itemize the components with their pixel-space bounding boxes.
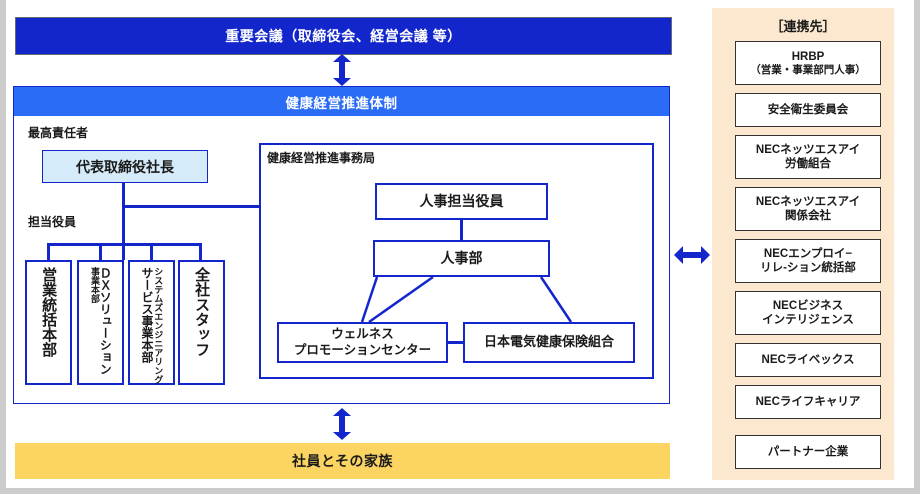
arrow-shaft [339, 414, 345, 434]
sidebar-item-nec-employee-relations-line1: NECエンプロイ− [764, 247, 852, 261]
department-box-3: システムズエンジニアリング サービス事業本部 [128, 260, 175, 385]
connector-ceo-to-officers [122, 205, 125, 260]
important-meetings-label: 重要会議（取締役会、経営会議 等） [225, 26, 461, 46]
department-box-2: ＤＸソリューション 事業本部 [77, 260, 124, 385]
wellness-promotion-center-line1: ウェルネス [331, 327, 394, 343]
arrow-head-down [333, 432, 351, 440]
arrow-head-down [333, 78, 351, 86]
sidebar-item-nesic-affiliates-line1: NECネッツエスアイ [756, 195, 860, 209]
ceo-box: 代表取締役社長 [42, 150, 208, 183]
sidebar-item-nec-livex-line1: NECライベックス [762, 353, 855, 367]
partners-sidebar-title: ［連携先］ [712, 16, 894, 35]
sidebar-item-hrbp-line2: （営業・事業部門人事） [750, 64, 866, 77]
vertical-double-arrow-bottom [333, 408, 351, 440]
sidebar-item-safety-health-committee[interactable]: 安全衛生委員会 [735, 93, 881, 127]
department-label-1-line1: 営業統括本部 [41, 267, 56, 357]
sidebar-item-nec-livex[interactable]: NECライベックス [735, 343, 881, 377]
employees-and-families-bar: 社員とその家族 [15, 443, 670, 479]
sidebar-item-nesic-labor-union-line1: NECネッツエスアイ [756, 143, 860, 157]
sidebar-item-hrbp[interactable]: HRBP （営業・事業部門人事） [735, 41, 881, 85]
department-box-4: 全社スタッフ [178, 260, 225, 385]
chief-officer-label: 最高責任者 [28, 124, 88, 141]
vertical-double-arrow-top [333, 54, 351, 86]
department-label-3-line1: システムズエンジニアリング [153, 267, 162, 384]
connector-wellness-to-kenpo [448, 341, 463, 344]
horizontal-double-arrow-side [674, 246, 710, 264]
connector-dept-4 [199, 243, 202, 261]
sidebar-item-nec-business-intelligence[interactable]: NECビジネス インテリジェンス [735, 291, 881, 335]
department-label-3-line2: サービス事業本部 [141, 267, 153, 363]
arrow-head-left [674, 246, 683, 264]
wellness-promotion-center-line2: プロモーションセンター [294, 343, 431, 359]
partners-sidebar: ［連携先］ HRBP （営業・事業部門人事） 安全衛生委員会 NECネッツエスア… [712, 8, 894, 480]
nec-health-insurance-union-box: 日本電気健康保険組合 [463, 322, 635, 363]
ceo-label: 代表取締役社長 [76, 157, 174, 177]
important-meetings-bar: 重要会議（取締役会、経営会議 等） [15, 17, 672, 55]
arrow-shaft [339, 60, 345, 80]
diagram-canvas: 重要会議（取締役会、経営会議 等） 健康経営推進体制 最高責任者 代表取締役社長… [0, 0, 920, 494]
sidebar-item-partner-companies[interactable]: パートナー企業 [735, 435, 881, 469]
sidebar-item-nesic-labor-union-line2: 労働組合 [785, 157, 831, 171]
responsible-officer-label: 担当役員 [28, 213, 76, 230]
sidebar-item-nesic-labor-union[interactable]: NECネッツエスアイ 労働組合 [735, 135, 881, 179]
sidebar-item-nesic-affiliates[interactable]: NECネッツエスアイ 関係会社 [735, 187, 881, 231]
health-management-panel-header: 健康経営推進体制 [14, 87, 669, 116]
connector-dept-3 [150, 243, 153, 261]
sidebar-item-nesic-affiliates-line2: 関係会社 [785, 209, 831, 223]
connector-dept-2 [99, 243, 102, 261]
sidebar-item-nec-business-intelligence-line1: NECビジネス [773, 299, 843, 313]
connector-ceo-down [122, 183, 125, 205]
sidebar-item-safety-health-committee-line1: 安全衛生委員会 [768, 103, 849, 117]
connector-dept-1 [47, 243, 50, 261]
page-border-right [914, 0, 920, 494]
arrow-head-up [333, 408, 351, 416]
employees-and-families-label: 社員とその家族 [292, 451, 393, 471]
sidebar-item-nec-life-career-line1: NECライフキャリア [756, 395, 861, 409]
sidebar-item-hrbp-line1: HRBP [792, 50, 825, 64]
sidebar-item-nec-life-career[interactable]: NECライフキャリア [735, 385, 881, 419]
arrow-head-right [701, 246, 710, 264]
department-box-1: 営業統括本部 [25, 260, 72, 385]
sidebar-item-partner-companies-line1: パートナー企業 [768, 445, 849, 459]
health-management-panel-title: 健康経営推進体制 [286, 92, 398, 112]
arrow-shaft [681, 252, 703, 258]
nec-health-insurance-union-label: 日本電気健康保険組合 [484, 334, 614, 350]
arrow-head-up [333, 54, 351, 62]
wellness-promotion-center-box: ウェルネス プロモーションセンター [277, 322, 448, 363]
page-border-bottom [0, 488, 920, 494]
department-label-2-line1: ＤＸソリューション [99, 267, 111, 375]
connector-department-bus [47, 243, 202, 246]
department-label-4-line1: 全社スタッフ [194, 267, 209, 357]
page-border-left [0, 0, 6, 494]
sidebar-item-nec-employee-relations-line2: リレ-ション統括部 [760, 261, 856, 275]
sidebar-item-nec-business-intelligence-line2: インテリジェンス [762, 313, 854, 327]
sidebar-item-nec-employee-relations[interactable]: NECエンプロイ− リレ-ション統括部 [735, 239, 881, 283]
